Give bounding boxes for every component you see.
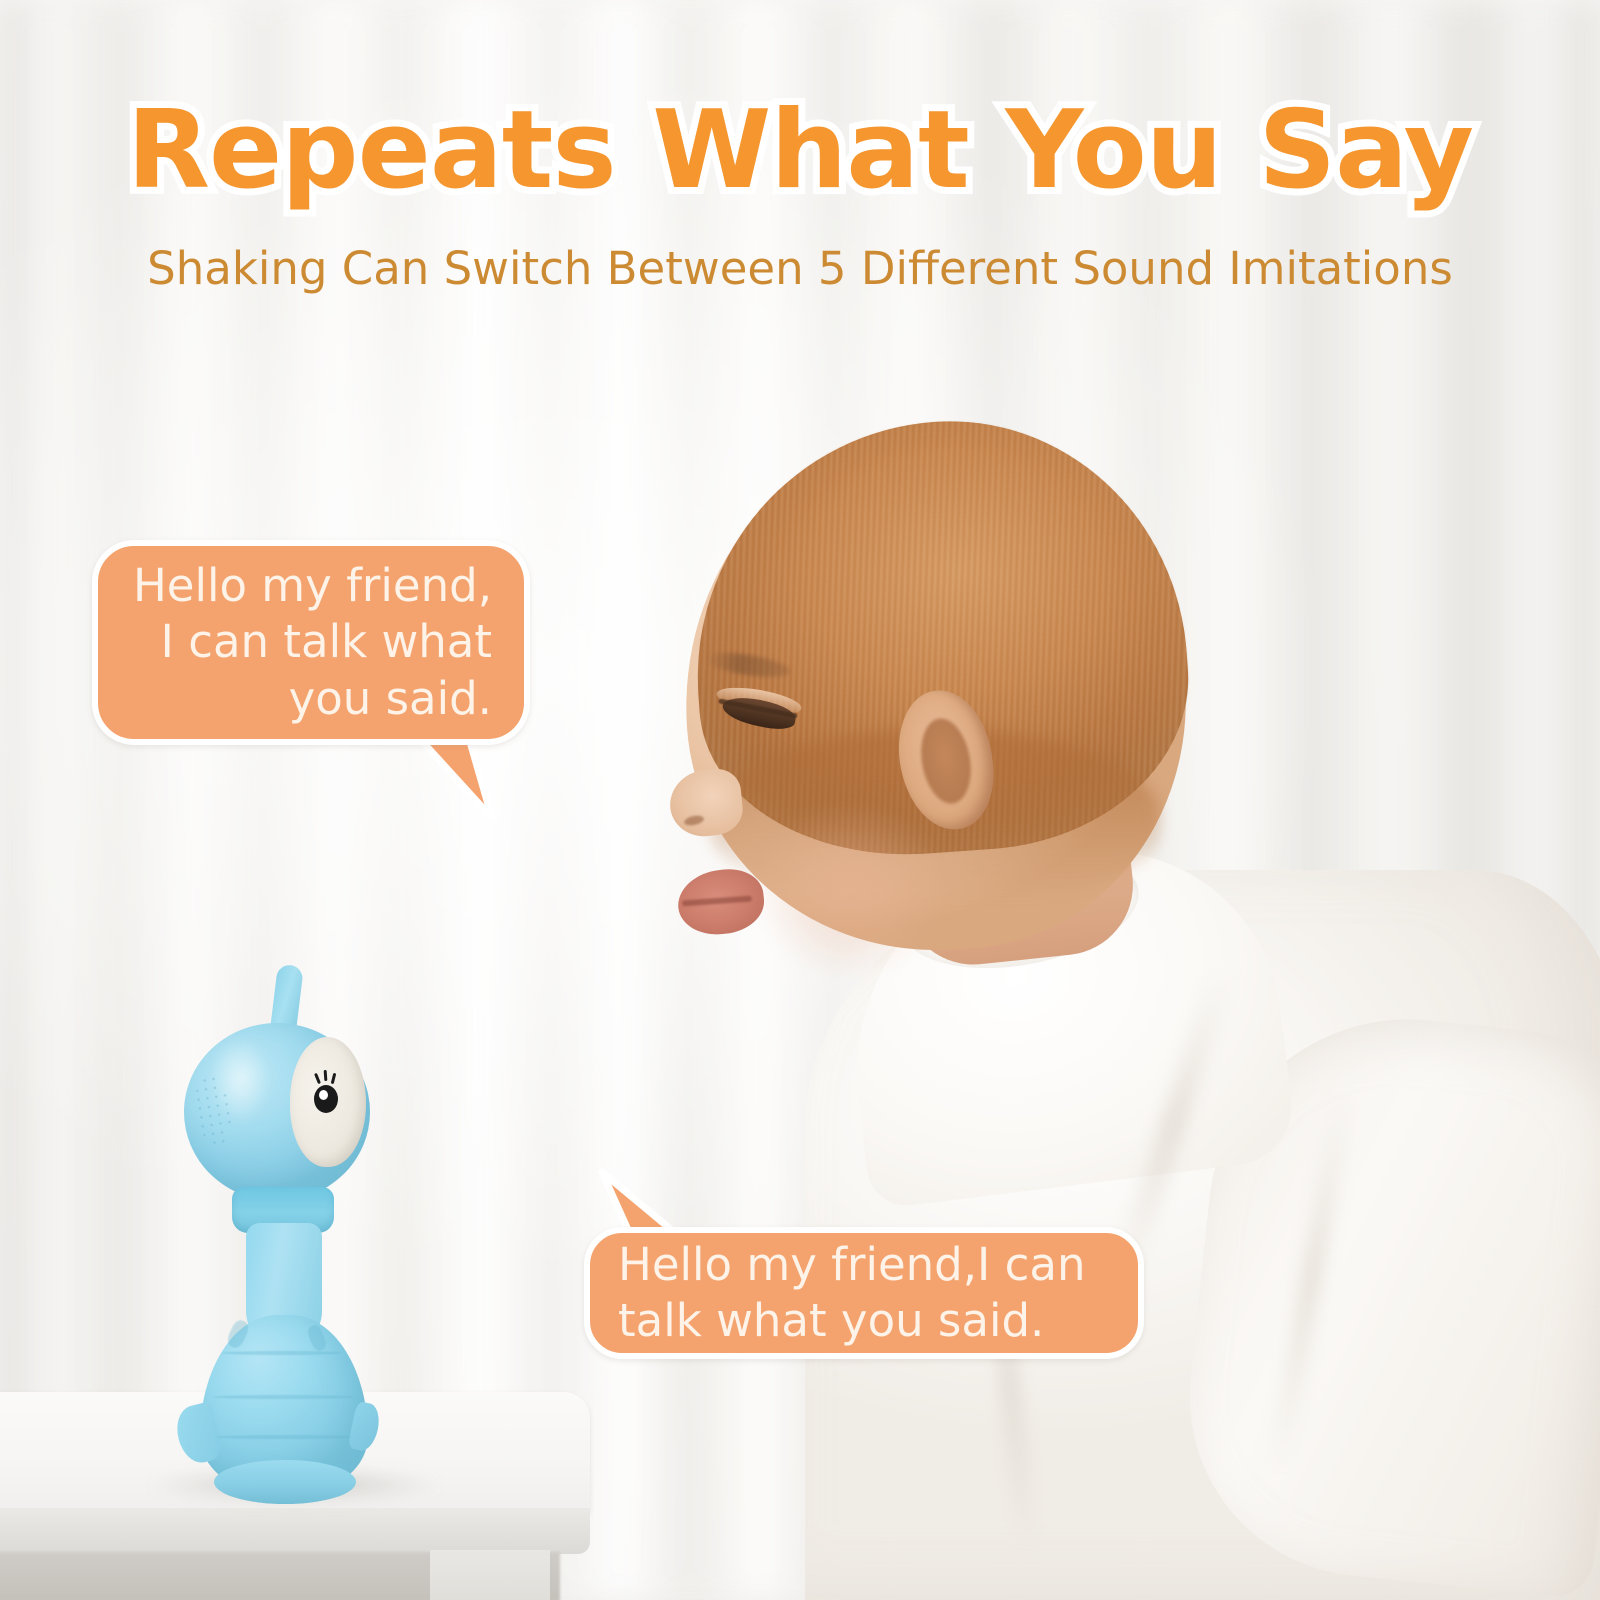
page-title: Repeats What You Say bbox=[0, 88, 1600, 213]
page-subtitle: Shaking Can Switch Between 5 Different S… bbox=[0, 242, 1600, 295]
baby-speech-text: Hello my friend,I can talk what you said… bbox=[618, 1237, 1110, 1350]
toy-ridge bbox=[216, 1435, 352, 1439]
product-marketing-image: Repeats What You Say Shaking Can Switch … bbox=[0, 0, 1600, 1600]
toy-base bbox=[214, 1460, 356, 1504]
toy-ridge bbox=[214, 1395, 354, 1399]
toy-ridge bbox=[222, 1351, 342, 1355]
toy-speech-bubble: Hello my friend, I can talk what you sai… bbox=[92, 540, 530, 745]
table-leg bbox=[430, 1550, 550, 1600]
blue-rattle-toy bbox=[170, 965, 400, 1525]
toy-eye-highlight bbox=[319, 1090, 328, 1100]
toddler-figure bbox=[600, 400, 1600, 1600]
baby-speech-bubble: Hello my friend,I can talk what you said… bbox=[584, 1227, 1144, 1359]
toy-speech-text: Hello my friend, I can talk what you sai… bbox=[126, 558, 492, 727]
cheek-blush bbox=[750, 800, 950, 980]
